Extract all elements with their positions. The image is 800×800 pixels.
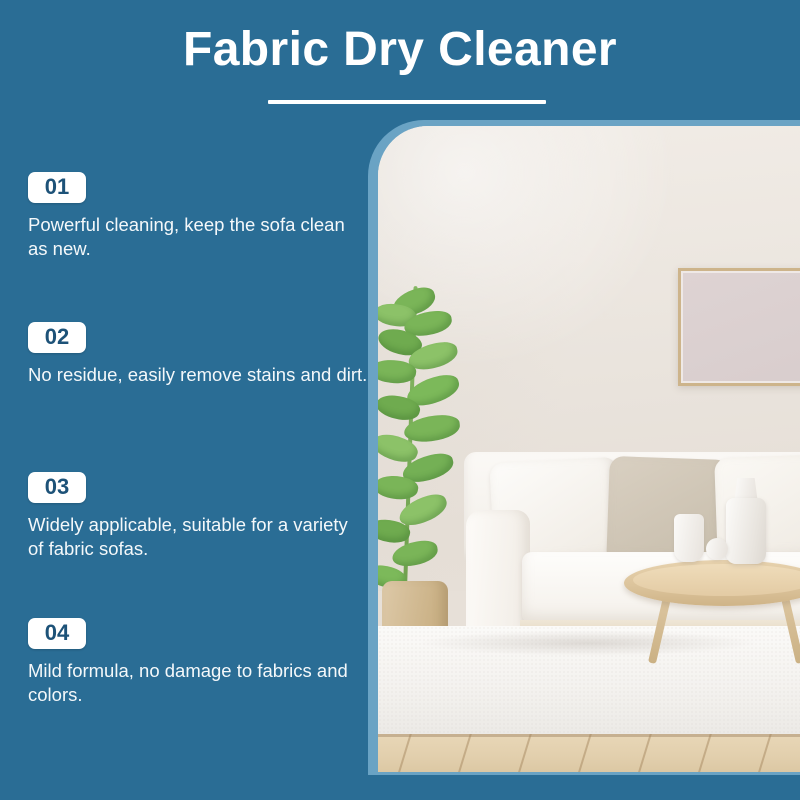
feature-description: No residue, easily remove stains and dir… xyxy=(28,363,368,387)
floor-plank-seam xyxy=(680,734,714,772)
table-top-surface xyxy=(633,564,800,596)
status-badge: 04 xyxy=(28,618,86,649)
list-item: 04 Mild formula, no damage to fabrics an… xyxy=(28,618,368,707)
feature-description: Powerful cleaning, keep the sofa clean a… xyxy=(28,213,368,261)
status-badge: 01 xyxy=(28,172,86,203)
table-top xyxy=(624,560,800,606)
table-leg xyxy=(648,592,672,664)
poster-header: Fabric Dry Cleaner xyxy=(0,0,800,120)
floor-plank-seam xyxy=(380,734,414,772)
wall-picture-frame xyxy=(678,268,800,386)
floor-plank-seam xyxy=(620,734,654,772)
oval-wooden-coffee-table xyxy=(624,560,800,680)
product-photo xyxy=(378,126,800,772)
living-room-scene xyxy=(378,126,800,772)
feature-description: Widely applicable, suitable for a variet… xyxy=(28,513,368,561)
list-item: 01 Powerful cleaning, keep the sofa clea… xyxy=(28,172,368,261)
list-item: 03 Widely applicable, suitable for a var… xyxy=(28,472,368,561)
picture-frame-art xyxy=(683,273,800,381)
floor-plank-seam xyxy=(500,734,534,772)
list-item: 02 No residue, easily remove stains and … xyxy=(28,322,368,387)
white-ceramic-pot xyxy=(674,514,704,562)
page-title: Fabric Dry Cleaner xyxy=(0,0,800,79)
floor-plank-seam xyxy=(740,734,774,772)
status-badge: 02 xyxy=(28,322,86,353)
white-ceramic-vase xyxy=(726,498,766,564)
picture-frame-mat xyxy=(681,271,800,383)
floor-plank-seam xyxy=(560,734,594,772)
feature-description: Mild formula, no damage to fabrics and c… xyxy=(28,659,368,707)
floor-plank-seam xyxy=(440,734,474,772)
white-ceramic-ball xyxy=(706,538,728,560)
product-feature-poster: Fabric Dry Cleaner 01 Powerful cleaning,… xyxy=(0,0,800,800)
light-wood-plank-floor xyxy=(378,734,800,772)
table-leg xyxy=(780,592,800,664)
status-badge: 03 xyxy=(28,472,86,503)
title-underline-divider xyxy=(268,100,546,104)
